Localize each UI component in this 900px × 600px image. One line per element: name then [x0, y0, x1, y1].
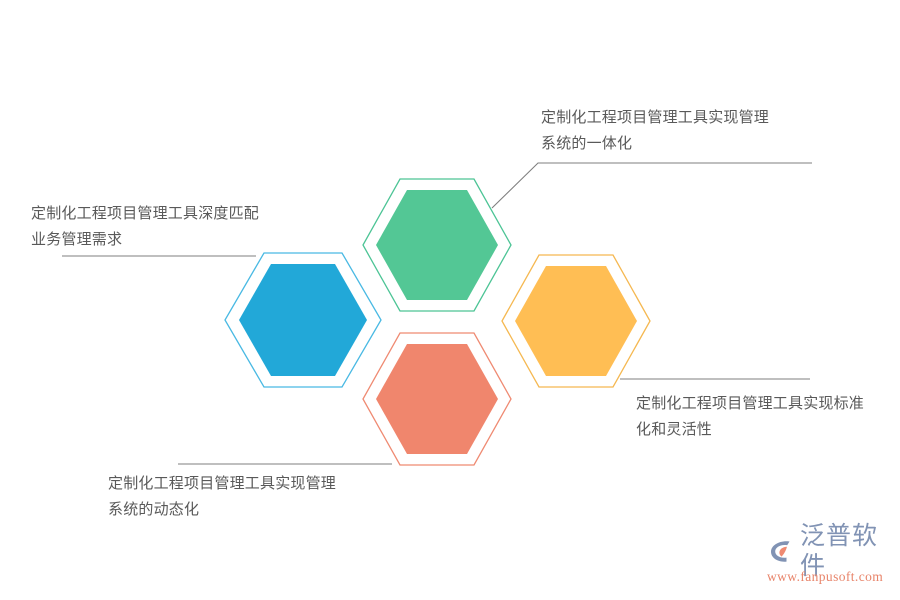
- callout-text-bottom-right: 定制化工程项目管理工具实现标准 化和灵活性: [636, 390, 886, 442]
- callout-text-top-right: 定制化工程项目管理工具实现管理 系统的一体化: [541, 104, 811, 156]
- hexagon-orange-fill: [515, 266, 637, 376]
- hexagon-blue[interactable]: [225, 253, 381, 387]
- hexagon-green-fill: [376, 190, 498, 300]
- hexagon-green[interactable]: [363, 179, 511, 311]
- logo-url: www.fanpusoft.com: [767, 569, 894, 585]
- brand-logo: 泛普软件 www.fanpusoft.com: [766, 534, 894, 588]
- diagram-canvas: 定制化工程项目管理工具实现管理 系统的一体化 定制化工程项目管理工具深度匹配 业…: [0, 0, 900, 600]
- callout-text-bottom-left: 定制化工程项目管理工具实现管理 系统的动态化: [108, 470, 378, 522]
- fanpu-logo-icon: [766, 536, 796, 566]
- leader-line-top-right: [492, 163, 812, 208]
- hexagon-salmon-fill: [376, 344, 498, 454]
- logo-row: 泛普软件: [766, 534, 894, 568]
- hexagon-salmon[interactable]: [363, 333, 511, 465]
- hexagon-blue-fill: [239, 264, 367, 376]
- hexagon-orange[interactable]: [502, 255, 650, 387]
- callout-text-left: 定制化工程项目管理工具深度匹配 业务管理需求: [31, 200, 291, 252]
